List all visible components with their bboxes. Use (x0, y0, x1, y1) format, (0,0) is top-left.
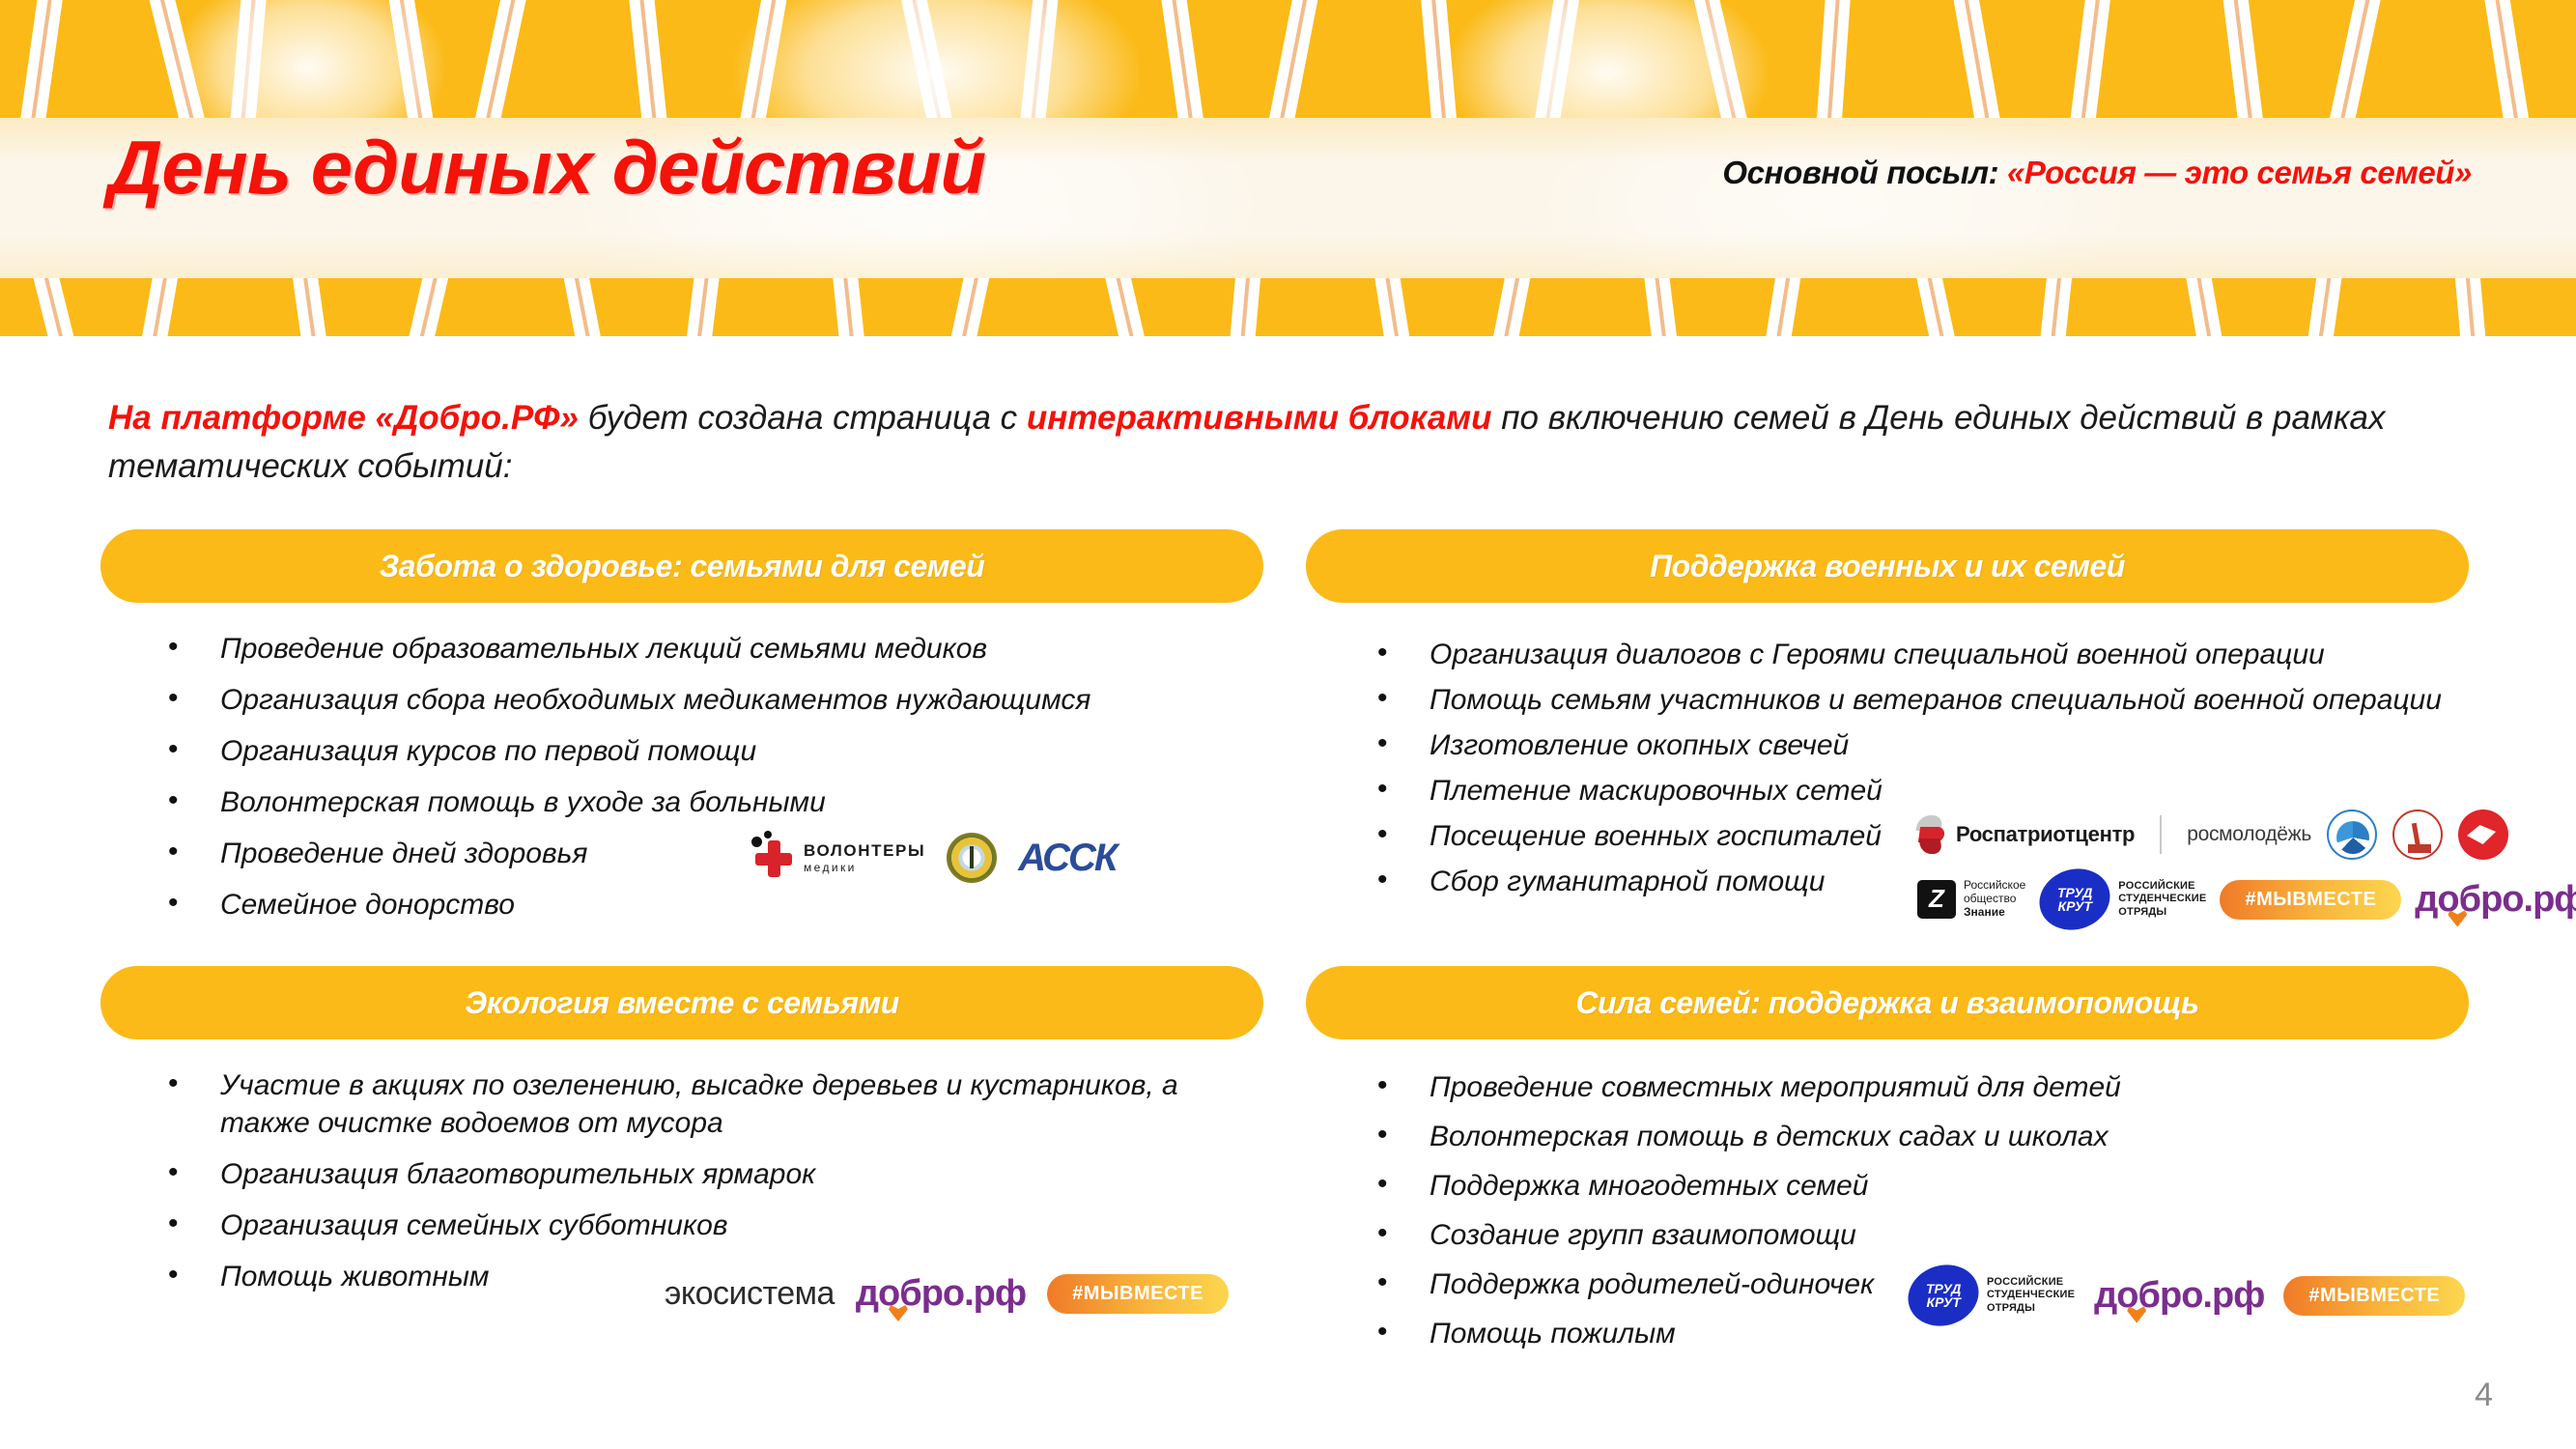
trud-krut-mark-icon: ТРУДКРУТ (2032, 860, 2119, 939)
card-health-logo-row: ВОЛОНТЕРЫ медики АССК (753, 833, 1116, 883)
intro-lead: На платформе «Добро.РФ» (108, 399, 579, 437)
card-family-power-header[interactable]: Сила семей: поддержка и взаимопомощь (1306, 966, 2469, 1039)
list-item: Волонтерская помощь в детских садах и шк… (1370, 1118, 2469, 1155)
dobro-rf-logo: добро.рф (2415, 879, 2576, 921)
mywmeste-badge: #МЫВМЕСТЕ (2220, 880, 2401, 920)
list-item: Проведение совместных мероприятий для де… (1370, 1068, 2469, 1106)
header-band-bottom (0, 278, 2576, 336)
list-item: Организация благотворительных ярмарок (160, 1155, 1263, 1193)
intro-paragraph: На платформе «Добро.РФ» будет создана ст… (108, 394, 2417, 490)
card-ecology-logo-row: экосистема добро.рф #МЫВМЕСТЕ (665, 1273, 1229, 1315)
list-item: Организация курсов по первой помощи (160, 732, 1263, 770)
intro-mid-1: будет создана страница с (579, 399, 1027, 437)
list-item: Организация сбора необходимых медикамент… (160, 681, 1263, 719)
assk-logo: АССК (1018, 837, 1116, 880)
card-family-power-logo-row: ТРУДКРУТ РОССИЙСКИЕ СТУДЕНЧЕСКИЕ ОТРЯДЫ … (1908, 1265, 2465, 1325)
trud-krut-logo: ТРУДКРУТ РОССИЙСКИЕ СТУДЕНЧЕСКИЕ ОТРЯДЫ (1908, 1265, 2075, 1325)
ribbon-icon (1917, 813, 1946, 856)
volontery-pobedy-logo (2327, 810, 2377, 860)
card-military-logo-row-2: Российское общество Знание ТРУДКРУТ РОСС… (1917, 869, 2576, 929)
volontery-mediki-line2: медики (804, 862, 925, 874)
page-number: 4 (2475, 1377, 2493, 1414)
red-cross-icon (753, 838, 794, 878)
list-item: Поддержка многодетных семей (1370, 1167, 2469, 1205)
page-title: День единых действий (108, 124, 985, 212)
card-health-header[interactable]: Забота о здоровье: семьями для семей (100, 529, 1263, 603)
card-military-title: Поддержка военных и их семей (1650, 549, 2125, 584)
rossiyskoe-obshchestvo-znanie-logo: Российское общество Знание (1917, 879, 2025, 919)
znanie-line2: общество (1964, 893, 2025, 906)
card-ecology-header[interactable]: Экология вместе с семьями (100, 966, 1263, 1039)
ekosistema-logo: экосистема (665, 1275, 835, 1313)
tagline-prefix: Основной посыл: (1722, 155, 1998, 190)
list-item: Организация семейных субботников (160, 1207, 1263, 1244)
volontery-mediki-line1: ВОЛОНТЕРЫ (804, 842, 925, 860)
znanie-mark-icon (1917, 880, 1956, 919)
volonter-circle-logo (2392, 810, 2443, 860)
znanie-line3: Знание (1964, 905, 2005, 919)
header-tagline: Основной посыл: «Россия — это семья семе… (1722, 155, 2472, 191)
mywmeste-badge: #МЫВМЕСТЕ (1047, 1274, 1229, 1314)
card-ecology-title: Экология вместе с семьями (465, 985, 899, 1021)
list-item: Участие в акциях по озеленению, высадке … (160, 1066, 1263, 1142)
list-item: Проведение образовательных лекций семьям… (160, 630, 1263, 668)
rosmolodezh-logo: росмолодёжь (2187, 823, 2311, 846)
dobro-rf-logo: добро.рф (2094, 1275, 2264, 1317)
rso-line3: ОТРЯДЫ (1987, 1302, 2075, 1315)
list-item: Изготовление окопных свечей (1370, 726, 2469, 764)
rso-line2: СТУДЕНЧЕСКИЕ (2118, 893, 2206, 905)
rso-line1: РОССИЙСКИЕ (1987, 1276, 2075, 1289)
card-family-power-title: Сила семей: поддержка и взаимопомощь (1575, 985, 2198, 1021)
dobro-rf-logo: добро.рф (856, 1273, 1026, 1315)
header-band-top (0, 0, 2576, 118)
leaf-pattern-bottom-icon (0, 278, 2576, 336)
rso-line1: РОССИЙСКИЕ (2118, 880, 2206, 893)
list-item: Семейное донорство (160, 886, 1263, 923)
red-circle-logo (2458, 810, 2508, 860)
mywmeste-badge: #МЫВМЕСТЕ (2283, 1276, 2465, 1316)
card-military-header[interactable]: Поддержка военных и их семей (1306, 529, 2469, 603)
rso-line2: СТУДЕНЧЕСКИЕ (1987, 1289, 2075, 1301)
rospatriotcentr-label: Роспатриотцентр (1956, 822, 2135, 847)
card-ecology[interactable]: Экология вместе с семьями Участие в акци… (100, 966, 1263, 1309)
slide: День единых действий Основной посыл: «Ро… (0, 0, 2576, 1449)
header-banner: День единых действий Основной посыл: «Ро… (0, 0, 2576, 336)
intro-highlight: интерактивными блоками (1027, 399, 1492, 437)
list-item: Создание групп взаимопомощи (1370, 1216, 2469, 1254)
round-emblem-logo (947, 833, 997, 883)
volontery-mediki-logo: ВОЛОНТЕРЫ медики (753, 838, 925, 878)
list-item: Плетение маскировочных сетей (1370, 772, 2469, 810)
trud-krut-logo: ТРУДКРУТ РОССИЙСКИЕ СТУДЕНЧЕСКИЕ ОТРЯДЫ (2039, 869, 2206, 929)
leaf-pattern-top-icon (0, 0, 2576, 118)
rospatriotcentr-logo: Роспатриотцентр (1917, 813, 2135, 856)
list-item: Волонтерская помощь в уходе за больными (160, 783, 1263, 821)
list-item: Организация диалогов с Героями специальн… (1370, 636, 2469, 673)
tagline-quote: «Россия — это семья семей» (2007, 155, 2472, 190)
card-ecology-bullets: Участие в акциях по озеленению, высадке … (100, 1066, 1263, 1295)
card-military-bullets: Организация диалогов с Героями специальн… (1306, 636, 2469, 900)
logo-divider (2160, 815, 2162, 854)
rso-line3: ОТРЯДЫ (2118, 906, 2206, 919)
card-health-title: Забота о здоровье: семьями для семей (380, 549, 985, 584)
trud-krut-mark-icon: ТРУДКРУТ (1900, 1256, 1987, 1335)
znanie-line1: Российское (1964, 879, 2025, 893)
card-military-logo-row-1: Роспатриотцентр росмолодёжь (1917, 810, 2508, 860)
list-item: Помощь семьям участников и ветеранов спе… (1370, 681, 2469, 719)
